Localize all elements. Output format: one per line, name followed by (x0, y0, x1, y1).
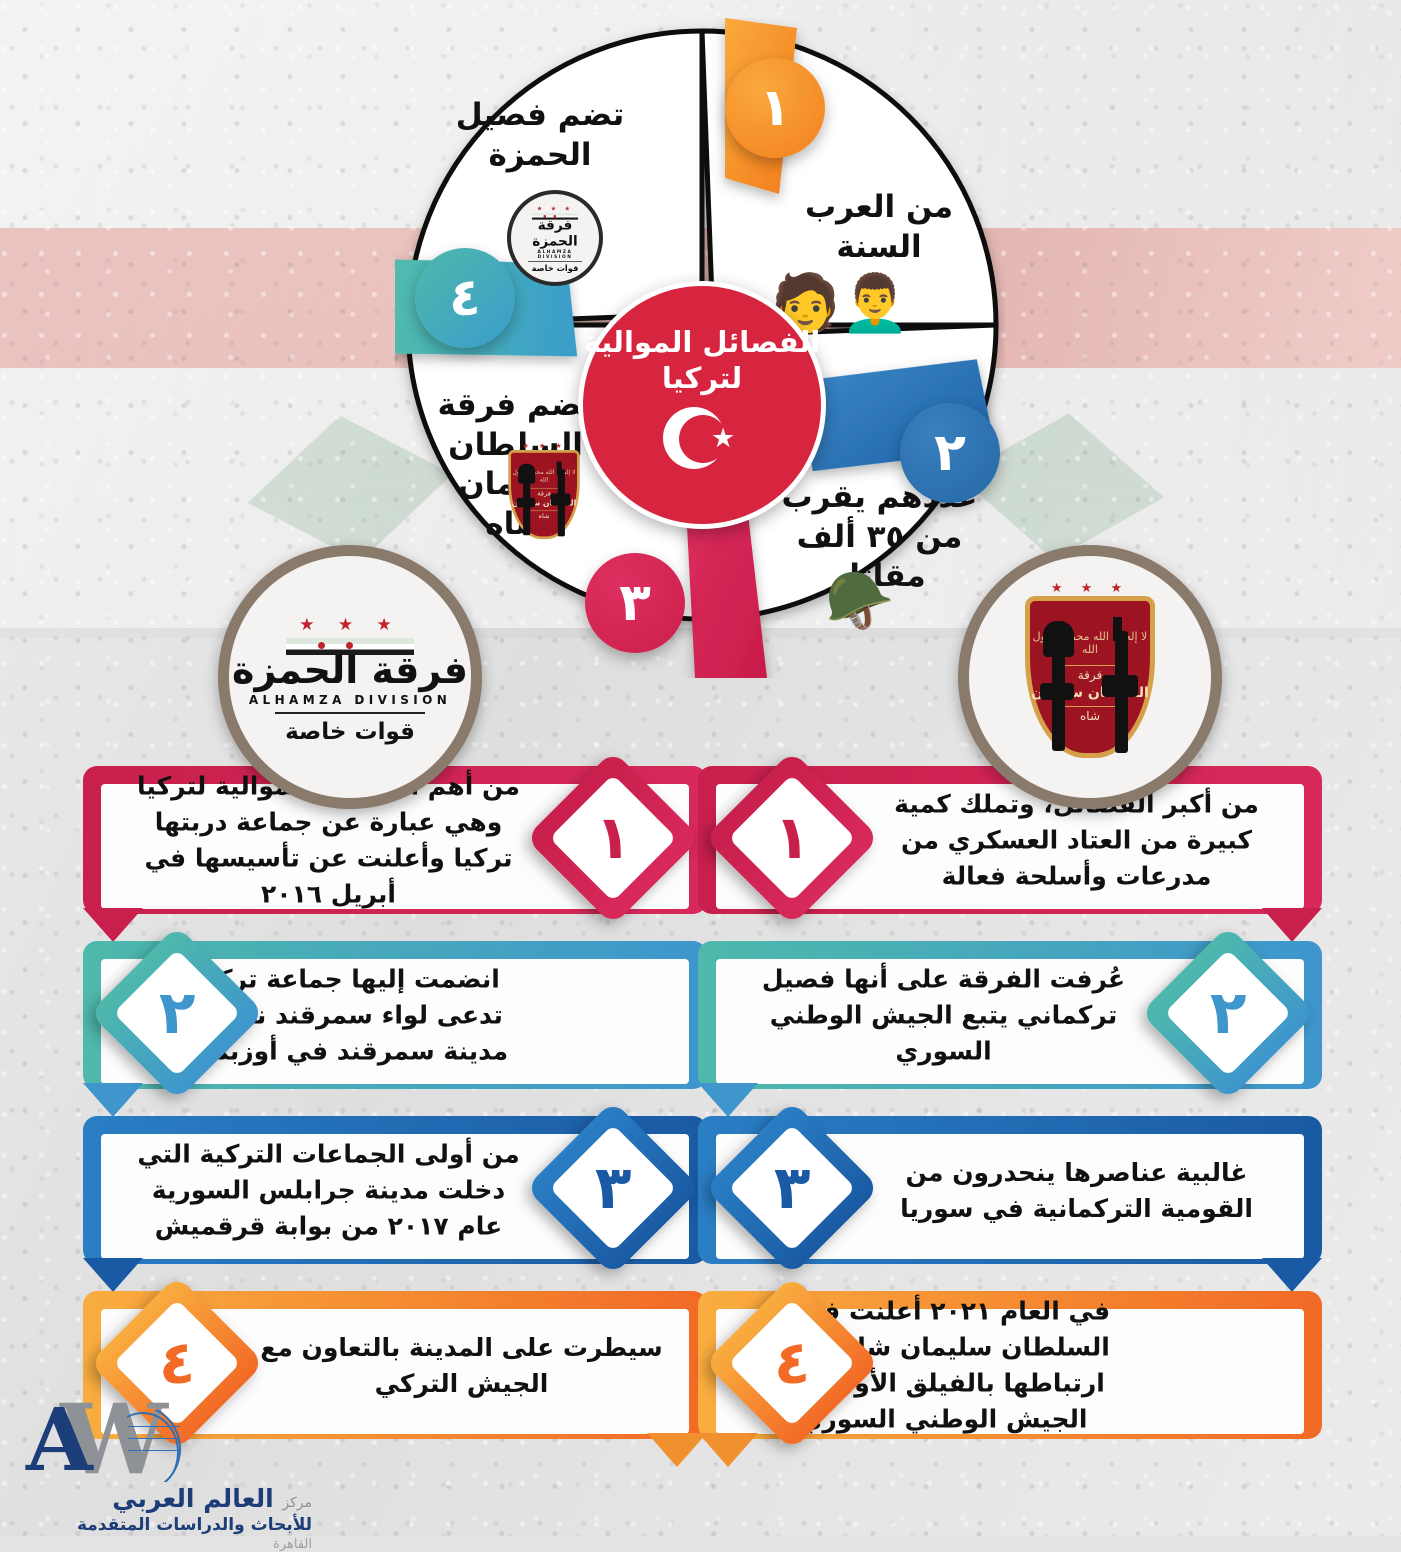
wheel-center-title: الفصائل الموالية لتركيا (583, 324, 821, 397)
alhamza-stars-icon: ★ ★ ★ (229, 615, 471, 635)
wheel-label-4: تضم فصيل الحمزة (435, 96, 645, 175)
alhamza-division-badge: ★ ★ ★ فرقة الحمزة ALHAMZA DIVISION قوات … (218, 545, 482, 809)
list-item[interactable]: في العام ٢٠٢١ أعلنت فرقة السلطان سليمان … (690, 1283, 1330, 1448)
wheel-shield-line1: فرقة (537, 489, 550, 497)
step-number: ١ (774, 803, 811, 873)
list-item[interactable]: من أكبر الفصائل، وتملك كمية كبيرة من الع… (690, 758, 1330, 923)
arrow-down-icon (698, 1433, 758, 1467)
alhamza-steps-column: من أهم الفصائل الموالية لتركيا وهي عبارة… (75, 758, 715, 1458)
wheel-emblem-alhamza-sub: قوات خاصة (528, 264, 582, 273)
logo-letter-a: A (26, 1398, 93, 1484)
sultan-stars-icon: ★ ★ ★ (1030, 581, 1150, 596)
sultan-steps-column: من أكبر الفصائل، وتملك كمية كبيرة من الع… (690, 758, 1330, 1458)
syrian-opposition-flag-icon (286, 638, 414, 655)
step-text: من أولى الجماعات التركية التي دخلت مدينة… (127, 1136, 530, 1245)
watermark-line1-prefix: مركز (282, 1495, 312, 1511)
sultan-line1: فرقة (1078, 668, 1103, 682)
step-text: سيطرت على المدينة بالتعاون مع الجيش التر… (260, 1329, 663, 1402)
assault-rifle-icon (1115, 631, 1128, 753)
divider (275, 712, 425, 714)
step-number: ١ (595, 803, 632, 873)
wheel-number-2[interactable]: ٢ (900, 403, 1000, 503)
sultan-line3: شاه (1080, 709, 1100, 723)
wheel-shield-line3: شاه (539, 512, 550, 520)
donut-wheel: تضم فصيل الحمزة من العرب السنة تضم فرقة … (395, 18, 1005, 678)
list-item[interactable]: من أولى الجماعات التركية التي دخلت مدينة… (75, 1108, 715, 1273)
logo-monogram: W A (12, 1392, 312, 1488)
wheel-emblem-alhamza-title: فرقة الحمزة (528, 217, 582, 249)
turkey-flag-icon: ★ (661, 407, 743, 469)
shield-icon: ★ ★ ★ لا إله إلا الله محمد رسول الله فرق… (1025, 596, 1155, 758)
soldiers-group-icon: 🪖 (825, 574, 895, 630)
wheel-label-1: من العرب السنة (779, 188, 979, 267)
globe-icon (127, 1410, 181, 1482)
watermark-line3: القاهرة (12, 1537, 312, 1552)
step-number: ٣ (595, 1153, 632, 1223)
wheel-number-3[interactable]: ٣ (585, 553, 685, 653)
step-number: ٢ (159, 978, 196, 1048)
watermark-line2: للأبحاث والدراسات المتقدمة (12, 1515, 312, 1535)
wheel-number-1[interactable]: ١ (725, 58, 825, 158)
wheel-center-hub: الفصائل الموالية لتركيا ★ (578, 281, 826, 529)
rpg-launcher-icon (1052, 635, 1065, 751)
watermark-logo: W A مركز العالم العربي للأبحاث والدراسات… (12, 1392, 312, 1552)
list-item[interactable]: عُرفت الفرقة على أنها فصيل تركماني يتبع … (690, 933, 1330, 1098)
step-text: غالبية عناصرها ينحدرون من القومية التركم… (875, 1154, 1278, 1227)
list-item[interactable]: انضمت إليها جماعة تركمانية تدعى لواء سمر… (75, 933, 715, 1098)
sultan-suleiman-shah-badge: ★ ★ ★ لا إله إلا الله محمد رسول الله فرق… (958, 545, 1222, 809)
rpg-icon (523, 471, 530, 535)
step-text: عُرفت الفرقة على أنها فصيل تركماني يتبع … (742, 961, 1145, 1070)
alhamza-latin-title: ALHAMZA DIVISION (229, 693, 471, 707)
wheel-emblem-alhamza-icon: ★ ★ ★ فرقة الحمزة ALHAMZA DIVISION قوات … (515, 190, 603, 278)
alhamza-subtitle: قوات خاصة (229, 719, 471, 745)
wheel-number-4[interactable]: ٤ (415, 248, 515, 348)
step-number: ٣ (774, 1153, 811, 1223)
rifle-icon (558, 469, 565, 536)
list-item[interactable]: غالبية عناصرها ينحدرون من القومية التركم… (690, 1108, 1330, 1273)
step-number: ٤ (774, 1328, 811, 1398)
wheel-emblem-alhamza-latin: ALHAMZA DIVISION (528, 249, 582, 259)
step-number: ٢ (1210, 978, 1247, 1048)
